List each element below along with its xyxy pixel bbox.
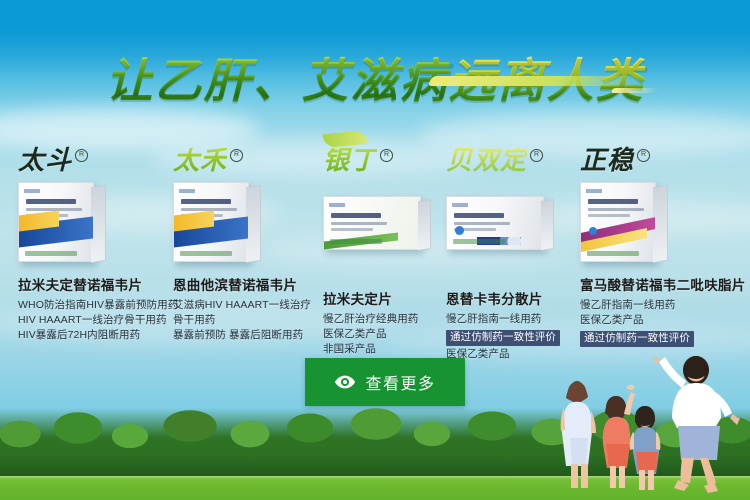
product-name: 恩曲他滨替诺福韦片	[173, 274, 320, 294]
product-feature: 艾滋病HIV HAAART一线治疗	[173, 298, 320, 313]
product-name: 拉米夫定片	[323, 288, 440, 308]
product-card-yinding[interactable]: 银丁 R 拉米夫定片 慢乙肝治疗经典用药 医保乙类产品 非国采产品	[320, 136, 440, 346]
product-feature: HIV暴露后72H内阻断用药	[18, 328, 170, 343]
family-illustration	[560, 352, 750, 500]
brand-logo-text: 太斗	[18, 148, 72, 174]
product-feature-badge: 通过仿制药一致性评价	[446, 330, 560, 346]
product-feature: 医保乙类产品	[580, 313, 750, 328]
brand-logo-zhengwen: 正稳 R	[580, 136, 750, 174]
product-feature: 慢乙肝治疗经典用药	[323, 312, 440, 327]
product-list: 太斗 R 拉米夫定替诺福韦片 WHO防治指南HIV暴露前预防用药 HIV HAA…	[0, 136, 750, 346]
product-feature: 骨干用药	[173, 313, 320, 328]
registered-trademark-icon: R	[637, 149, 650, 162]
brand-logo-taidou: 太斗 R	[18, 136, 170, 174]
product-box-image	[323, 196, 440, 282]
brand-logo-text: 贝双定	[446, 148, 527, 174]
product-card-zhengwen[interactable]: 正稳 R 富马酸替诺福韦二吡呋脂片 慢乙肝指南一线用药 医保乙类产品 通过仿制药…	[580, 136, 750, 346]
view-more-label: 查看更多	[365, 370, 435, 394]
product-box-image	[580, 182, 750, 268]
product-name: 恩替卡韦分散片	[446, 288, 580, 308]
product-feature: 暴露前预防 暴露后阻断用药	[173, 328, 320, 343]
registered-trademark-icon: R	[380, 149, 393, 162]
product-card-taihe[interactable]: 太禾 R 恩曲他滨替诺福韦片 艾滋病HIV HAAART一线治疗 骨干用药 暴露…	[170, 136, 320, 346]
product-features: 慢乙肝指南一线用药 医保乙类产品 通过仿制药一致性评价	[580, 298, 750, 348]
product-feature: 慢乙肝指南一线用药	[446, 312, 580, 327]
view-more-button[interactable]: 查看更多	[305, 358, 465, 406]
brand-logo-text: 太禾	[173, 148, 227, 174]
product-box-image	[173, 182, 320, 268]
brand-logo-taihe: 太禾 R	[173, 136, 320, 174]
brand-logo-beishuangding: 贝双定 R	[446, 136, 580, 174]
product-box-image	[18, 182, 170, 268]
brand-logo-text: 银丁	[323, 148, 377, 174]
figure-boy	[630, 406, 661, 490]
product-name: 富马酸替诺福韦二吡呋脂片	[580, 274, 750, 294]
brand-logo-yinding: 银丁 R	[323, 136, 440, 174]
promo-banner: 让乙肝、艾滋病远离人类 太斗 R 拉米夫定替诺福韦片 WHO防治指南HIV暴露前…	[0, 0, 750, 500]
product-feature: 非国采产品	[323, 342, 440, 357]
product-feature-badge: 通过仿制药一致性评价	[580, 331, 694, 347]
figure-mother	[561, 381, 596, 488]
product-feature: 医保乙类产品	[323, 327, 440, 342]
product-features: 慢乙肝治疗经典用药 医保乙类产品 非国采产品	[323, 312, 440, 357]
product-feature: WHO防治指南HIV暴露前预防用药	[18, 298, 170, 313]
registered-trademark-icon: R	[530, 149, 543, 162]
product-box-image	[446, 196, 580, 282]
product-card-taidou[interactable]: 太斗 R 拉米夫定替诺福韦片 WHO防治指南HIV暴露前预防用药 HIV HAA…	[0, 136, 170, 346]
product-feature: HIV HAAART一线治疗骨干用药	[18, 313, 170, 328]
product-feature: 慢乙肝指南一线用药	[580, 298, 750, 313]
product-features: 艾滋病HIV HAAART一线治疗 骨干用药 暴露前预防 暴露后阻断用药	[173, 298, 320, 343]
product-name: 拉米夫定替诺福韦片	[18, 274, 170, 294]
brand-logo-text: 正稳	[580, 148, 634, 174]
figure-girl	[603, 385, 635, 488]
registered-trademark-icon: R	[75, 149, 88, 162]
product-card-beishuangding[interactable]: 贝双定 R 恩替卡韦分散片 慢乙肝指南一线用药 通过仿制药一致性评价 医保乙类产…	[440, 136, 580, 346]
registered-trademark-icon: R	[230, 149, 243, 162]
eye-icon	[334, 371, 356, 393]
figure-father	[652, 356, 740, 493]
product-features: WHO防治指南HIV暴露前预防用药 HIV HAAART一线治疗骨干用药 HIV…	[18, 298, 170, 343]
